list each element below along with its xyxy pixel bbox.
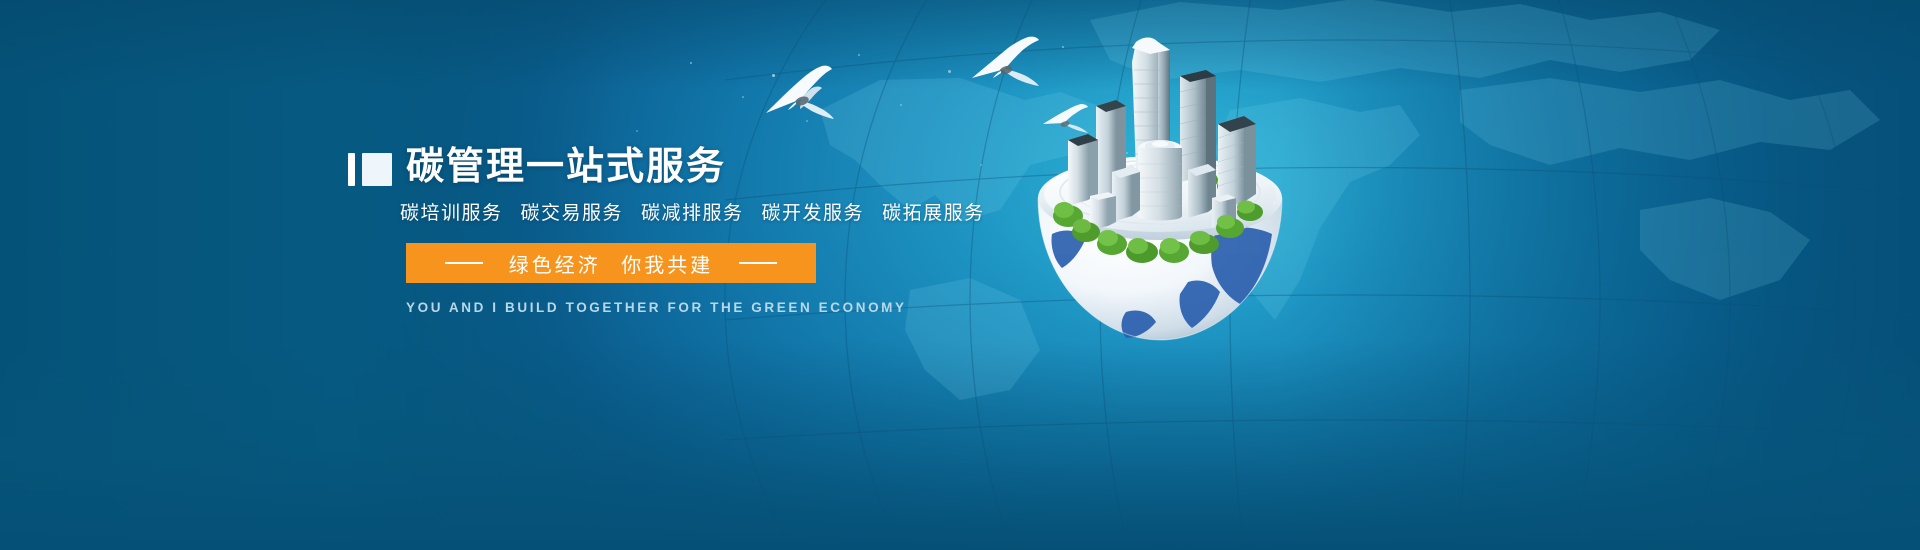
decor-bar-square-icon: [348, 153, 392, 186]
page-title: 碳管理一站式服务: [406, 148, 726, 186]
banner-content: 碳管理一站式服务 碳培训服务 碳交易服务 碳减排服务 碳开发服务 碳拓展服务 绿…: [348, 148, 1068, 315]
service-list: 碳培训服务 碳交易服务 碳减排服务 碳开发服务 碳拓展服务: [400, 198, 1068, 225]
service-item-3[interactable]: 碳开发服务: [762, 198, 865, 225]
seagull-large-icon: [760, 55, 840, 125]
slogan-part-one: 绿色经济: [503, 255, 607, 277]
slogan-banner: 绿色经济 你我共建: [406, 243, 816, 283]
english-tagline: YOU AND I BUILD TOGETHER FOR THE GREEN E…: [406, 300, 1068, 315]
service-item-0[interactable]: 碳培训服务: [400, 198, 503, 225]
service-item-1[interactable]: 碳交易服务: [521, 198, 624, 225]
hero-banner: 碳管理一站式服务 碳培训服务 碳交易服务 碳减排服务 碳开发服务 碳拓展服务 绿…: [0, 0, 1920, 550]
slogan-text: 绿色经济 你我共建: [503, 249, 720, 278]
service-item-2[interactable]: 碳减排服务: [641, 198, 744, 225]
slogan-dash-left-icon: [445, 262, 483, 264]
slogan-dash-right-icon: [739, 262, 777, 264]
service-item-4[interactable]: 碳拓展服务: [882, 198, 985, 225]
slogan-part-two: 你我共建: [615, 255, 719, 277]
title-row: 碳管理一站式服务: [348, 148, 1068, 186]
